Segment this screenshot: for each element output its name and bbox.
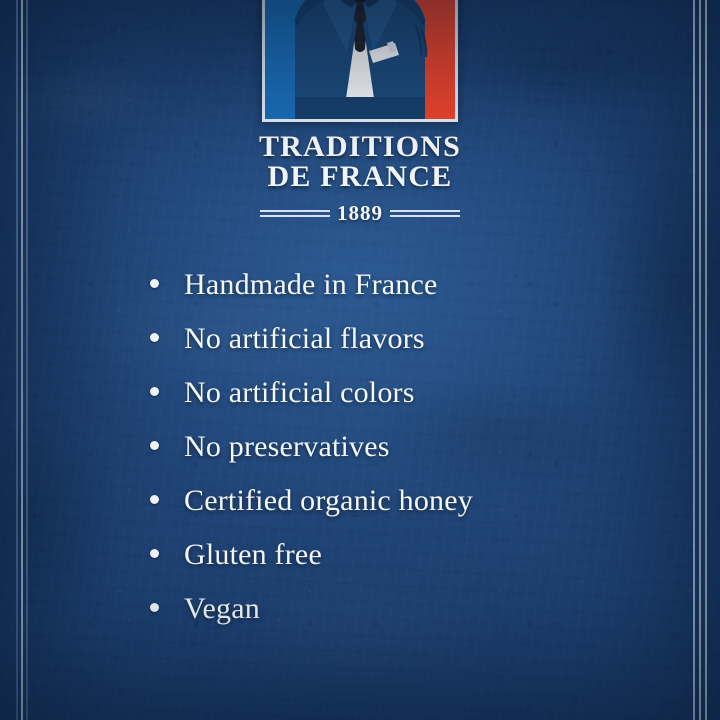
bullet-icon <box>150 387 159 396</box>
list-item: No preservatives <box>150 430 680 464</box>
feature-label: No preservatives <box>184 430 390 464</box>
brand-line-traditions: TRADITIONS <box>259 132 461 162</box>
feature-list: Handmade in France No artificial flavors… <box>150 268 680 646</box>
feature-label: No artificial flavors <box>184 322 425 356</box>
bullet-icon <box>150 279 159 288</box>
list-item: Handmade in France <box>150 268 680 302</box>
established-year: 1889 <box>337 201 383 226</box>
product-feature-poster: TRADITIONS DE FRANCE 1889 Handmade in Fr… <box>0 0 720 720</box>
bullet-icon <box>150 441 159 450</box>
brand-logo-block: TRADITIONS DE FRANCE 1889 <box>0 0 720 226</box>
established-year-row: 1889 <box>259 201 461 226</box>
list-item: No artificial colors <box>150 376 680 410</box>
frenchman-portrait-crest-icon <box>262 0 458 122</box>
year-rule-right <box>390 210 460 217</box>
feature-label: Certified organic honey <box>184 484 473 518</box>
year-rule-left <box>260 210 330 217</box>
bullet-icon <box>150 549 159 558</box>
feature-label: Gluten free <box>184 538 322 572</box>
list-item: Gluten free <box>150 538 680 572</box>
bullet-icon <box>150 495 159 504</box>
feature-label: Handmade in France <box>184 268 438 302</box>
feature-label: Vegan <box>184 592 260 626</box>
feature-label: No artificial colors <box>184 376 415 410</box>
bullet-icon <box>150 333 159 342</box>
list-item: Certified organic honey <box>150 484 680 518</box>
list-item: No artificial flavors <box>150 322 680 356</box>
bullet-icon <box>150 603 159 612</box>
brand-wordmark: TRADITIONS DE FRANCE 1889 <box>259 132 461 226</box>
list-item: Vegan <box>150 592 680 626</box>
brand-line-de-france: DE FRANCE <box>259 162 461 192</box>
